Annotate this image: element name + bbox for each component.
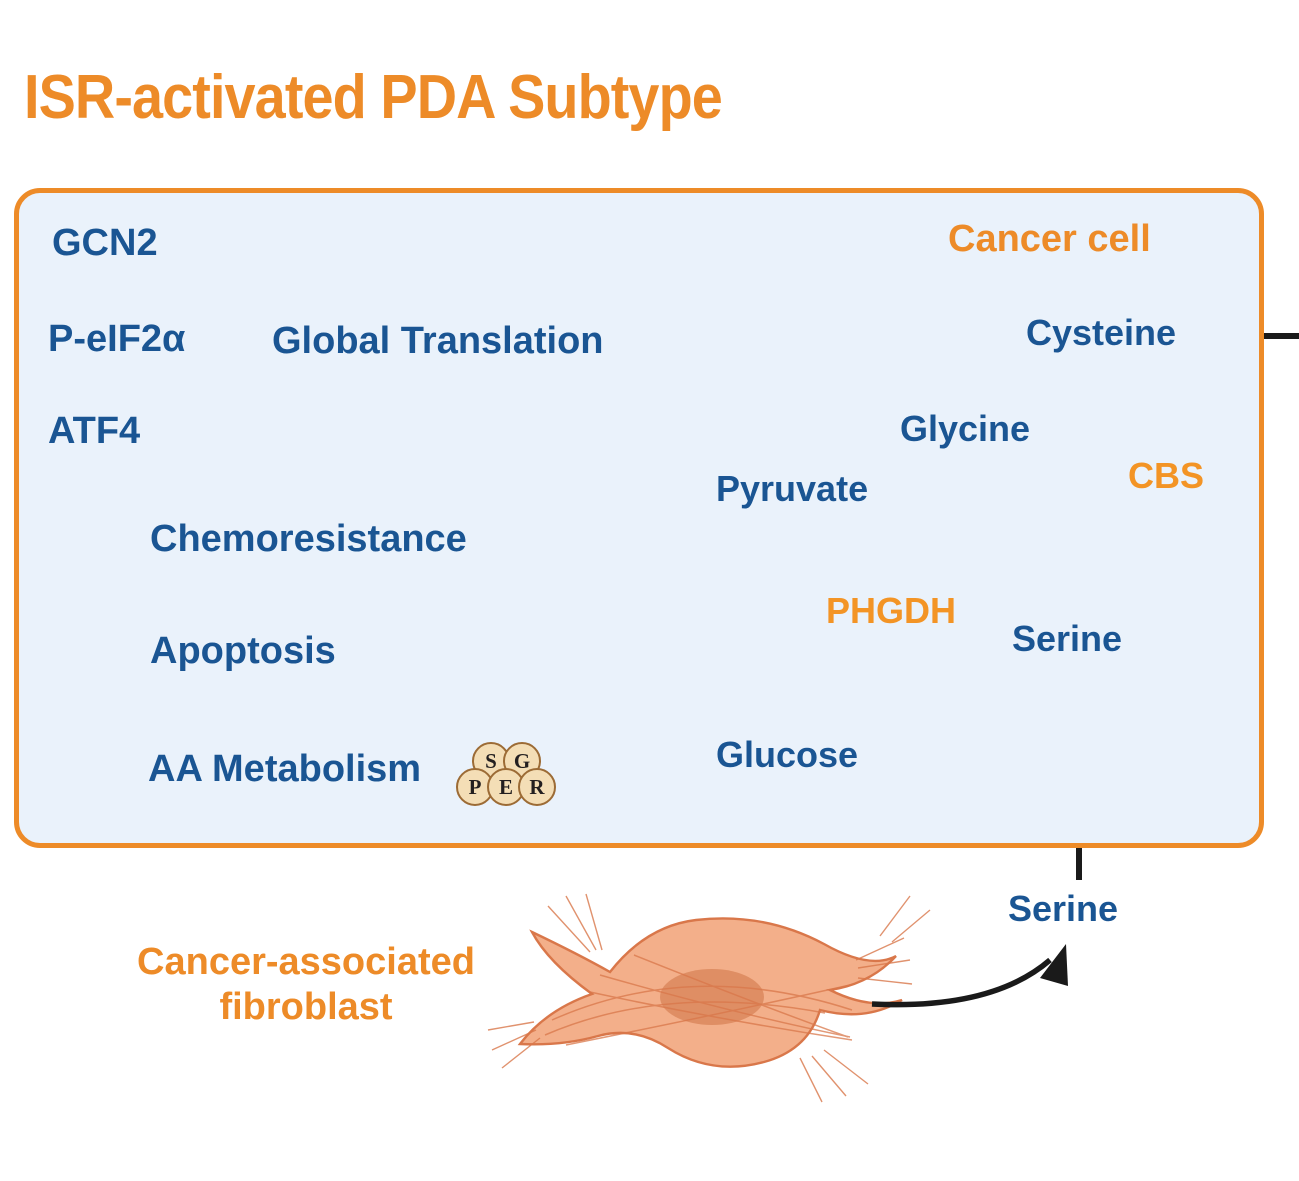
node-glycine: Glycine	[900, 408, 1030, 450]
fibroblast-label-line1: Cancer-associated	[96, 940, 516, 985]
enzyme-label-phgdh: PHGDH	[826, 590, 956, 632]
node-global-translation: Global Translation	[272, 320, 604, 363]
page-title: ISR-activated PDA Subtype	[24, 62, 722, 133]
node-serine-extracellular: Serine	[1008, 888, 1118, 930]
node-apoptosis: Apoptosis	[150, 630, 336, 673]
fibroblast-cell-icon	[488, 894, 930, 1102]
node-aa-metabolism: AA Metabolism	[148, 748, 421, 791]
fibroblast-label: Cancer-associated fibroblast	[96, 940, 516, 1030]
node-glucose: Glucose	[716, 734, 858, 776]
node-cysteine: Cysteine	[1026, 312, 1176, 354]
enzyme-label-cbs: CBS	[1128, 455, 1204, 497]
fibroblast-label-line2: fibroblast	[96, 985, 516, 1030]
node-gcn2: GCN2	[52, 222, 158, 265]
edge-fibroblast-to-serine	[872, 944, 1068, 1005]
node-chemoresistance: Chemoresistance	[150, 518, 467, 561]
node-p-eif2a: P-eIF2α	[48, 318, 185, 361]
node-pyruvate: Pyruvate	[716, 468, 868, 510]
amino-acid-circle-r: R	[518, 768, 556, 806]
cancer-cell-label: Cancer cell	[948, 218, 1151, 261]
node-serine: Serine	[1012, 618, 1122, 660]
node-atf4: ATF4	[48, 410, 140, 453]
